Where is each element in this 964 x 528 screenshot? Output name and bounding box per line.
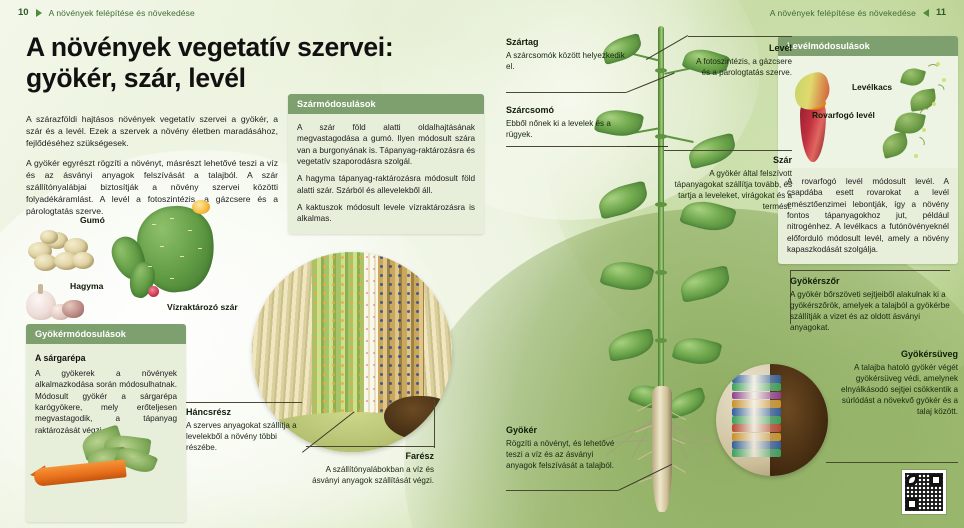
page-number-right: 11 <box>936 7 946 18</box>
callout-hancsresz: Háncsrész A szerves anyagokat szállítja … <box>186 406 302 453</box>
triangle-right-icon <box>36 9 42 17</box>
leader-line-szarcsomo <box>626 146 668 147</box>
callout-hancsresz-title: Háncsrész <box>186 406 302 418</box>
callout-gyokersuveg-title: Gyökérsüveg <box>826 348 958 360</box>
root-tip-tissue-layers <box>732 375 781 462</box>
leader-rule-faresz <box>306 446 434 447</box>
panel-root-heading: Gyökérmódosulások <box>26 324 186 344</box>
callout-gyoker-title: Gyökér <box>506 424 618 436</box>
leader-rule-hancsresz <box>186 402 302 403</box>
callout-szartag-title: Szártag <box>506 36 626 48</box>
textbook-spread: 10 A növények felépítése és növekedése A… <box>0 0 964 528</box>
panel-stem-modifications: Szármódosulások A szár föld alatti oldal… <box>288 94 484 234</box>
panel-root-subheading: A sárgarépa <box>35 352 177 364</box>
leader-rule-level <box>688 36 792 37</box>
plant-leaf <box>678 265 733 303</box>
taproot-illustration <box>628 386 698 516</box>
garlic-bulb <box>26 290 56 320</box>
callout-szar-text: A gyökér által felszívott tápanyagokat s… <box>675 169 792 211</box>
qr-finder-bottom-left <box>906 498 918 510</box>
panel-stem-paragraph-1: A szár föld alatti oldalhajtásának megva… <box>297 122 475 167</box>
callout-szar-title: Szár <box>664 154 792 166</box>
tendril-plant-illustration <box>876 62 950 166</box>
running-title-left: A növények felépítése és növekedése <box>49 8 195 18</box>
callout-szarcsomo-title: Szárcsomó <box>506 104 626 116</box>
stem-node <box>655 338 667 343</box>
leader-rule-gyoker <box>506 490 618 491</box>
page-title: A növények vegetatív szervei: gyökér, sz… <box>26 32 466 93</box>
callout-level-text: A fotoszintézis, a gázcsere és a párolog… <box>696 57 792 77</box>
callout-level-title: Levél <box>688 42 792 54</box>
leader-rule-szartag <box>506 92 626 93</box>
callout-szarcsomo: Szárcsomó Ebből nőnek ki a levelek és a … <box>506 104 626 140</box>
qr-code-icon[interactable] <box>902 470 946 514</box>
label-hagyma: Hagyma <box>70 281 103 291</box>
intro-text: A szárazföldi hajtásos növények vegetatí… <box>26 113 278 218</box>
callout-faresz-title: Farész <box>306 450 434 462</box>
panel-leaf-body: A rovarfogó levél módosult levél. A csap… <box>778 168 958 264</box>
plant-leaf <box>606 328 656 362</box>
panel-root-body: A sárgarépa A gyökerek a növények alkalm… <box>26 344 186 522</box>
panel-stem-heading: Szármódosulások <box>288 94 484 114</box>
label-rovarfogo-level: Rovarfogó levél <box>812 110 875 120</box>
running-title-right: A növények felépítése és növekedése <box>770 8 916 18</box>
pitcher-lid <box>790 70 834 113</box>
label-gumo: Gumó <box>80 215 105 225</box>
qr-finder-top-right <box>930 474 942 486</box>
stem-node <box>655 270 667 275</box>
callout-szartag: Szártag A szárcsomók között helyezkedik … <box>506 36 626 72</box>
callout-gyokerszor-text: A gyökér bőrszöveti sejtjeiből alakulnak… <box>790 290 950 332</box>
callout-gyoker-text: Rögzíti a növényt, és lehetővé teszi a v… <box>506 439 614 470</box>
leader-rule-gyokersuveg <box>826 462 958 463</box>
intro-paragraph-2: A gyökér egyrészt rögzíti a növényt, más… <box>26 157 278 218</box>
running-head-right: A növények felépítése és növekedése 11 <box>770 7 946 18</box>
callout-faresz: Farész A szállítónyalábokban a víz és ás… <box>306 450 434 486</box>
callout-gyoker: Gyökér Rögzíti a növényt, és lehetővé te… <box>506 424 618 471</box>
panel-leaf-modifications: Levélmódosulások <box>778 36 958 264</box>
cactus-pad <box>127 260 158 300</box>
garlic-photo <box>24 286 92 326</box>
page-number-left: 10 <box>18 7 29 18</box>
callout-szar: Szár A gyökér által felszívott tápanyago… <box>664 154 792 212</box>
callout-gyokersuveg-text: A talajba hatoló gyökér végét gyökérsüve… <box>841 363 958 416</box>
callout-szartag-text: A szárcsomók között helyezkedik el. <box>506 51 625 71</box>
panel-stem-paragraph-2: A hagyma tápanyag-raktározásra módosult … <box>297 173 475 196</box>
leader-rule-szarcsomo <box>506 146 626 147</box>
potato-photo <box>26 228 96 272</box>
taproot-body <box>652 386 672 512</box>
callout-faresz-text: A szállítónyalábokban a víz és ásványi a… <box>312 465 434 485</box>
leader-rule-szar <box>664 150 792 151</box>
cactus-bud <box>148 286 159 297</box>
panel-stem-body: A szár föld alatti oldalhajtásának megva… <box>288 114 484 234</box>
triangle-left-icon <box>923 9 929 17</box>
garlic-clove <box>62 300 84 318</box>
leader-rule-gyokerszor <box>790 270 950 271</box>
root-tip-figure <box>716 364 828 476</box>
callout-szarcsomo-text: Ebből nőnek ki a levelek és a rügyek. <box>506 119 611 139</box>
running-head-left: 10 A növények felépítése és növekedése <box>18 7 195 18</box>
callout-gyokerszor-title: Gyökérszőr <box>790 275 950 287</box>
plant-stem <box>658 26 664 426</box>
callout-hancsresz-text: A szerves anyagokat szállítja a levelekb… <box>186 421 297 452</box>
callout-level: Levél A fotoszintézis, a gázcsere és a p… <box>688 42 792 78</box>
plant-leaf <box>595 180 650 219</box>
leader-stem-faresz <box>434 400 435 448</box>
garlic-clove <box>50 304 70 320</box>
panel-leaf-heading: Levélmódosulások <box>778 36 958 56</box>
plant-leaf <box>599 256 654 295</box>
intro-paragraph-1: A szárazföldi hajtásos növények vegetatí… <box>26 113 278 150</box>
label-levelkacs: Levélkacs <box>852 82 892 92</box>
callout-gyokersuveg: Gyökérsüveg A talajba hatoló gyökér végé… <box>826 348 958 417</box>
label-vizraktarozo-szar: Vízraktározó szár <box>167 302 238 312</box>
panel-leaf-paragraph-1: A rovarfogó levél módosult levél. A csap… <box>787 176 949 255</box>
panel-root-modifications: Gyökérmódosulások A sárgarépa A gyökerek… <box>26 324 186 522</box>
panel-root-paragraph-1: A gyökerek a növények alkalmazkodása sor… <box>35 368 177 436</box>
plant-leaf <box>672 333 723 369</box>
leaf-modification-figure: Levélkacs Rovarfogó levél <box>778 56 958 168</box>
callout-gyokerszor: Gyökérszőr A gyökér bőrszöveti sejtjeibő… <box>790 275 950 333</box>
panel-stem-paragraph-3: A kaktuszok módosult levele vízraktározá… <box>297 202 475 225</box>
cactus-pad <box>106 232 151 284</box>
